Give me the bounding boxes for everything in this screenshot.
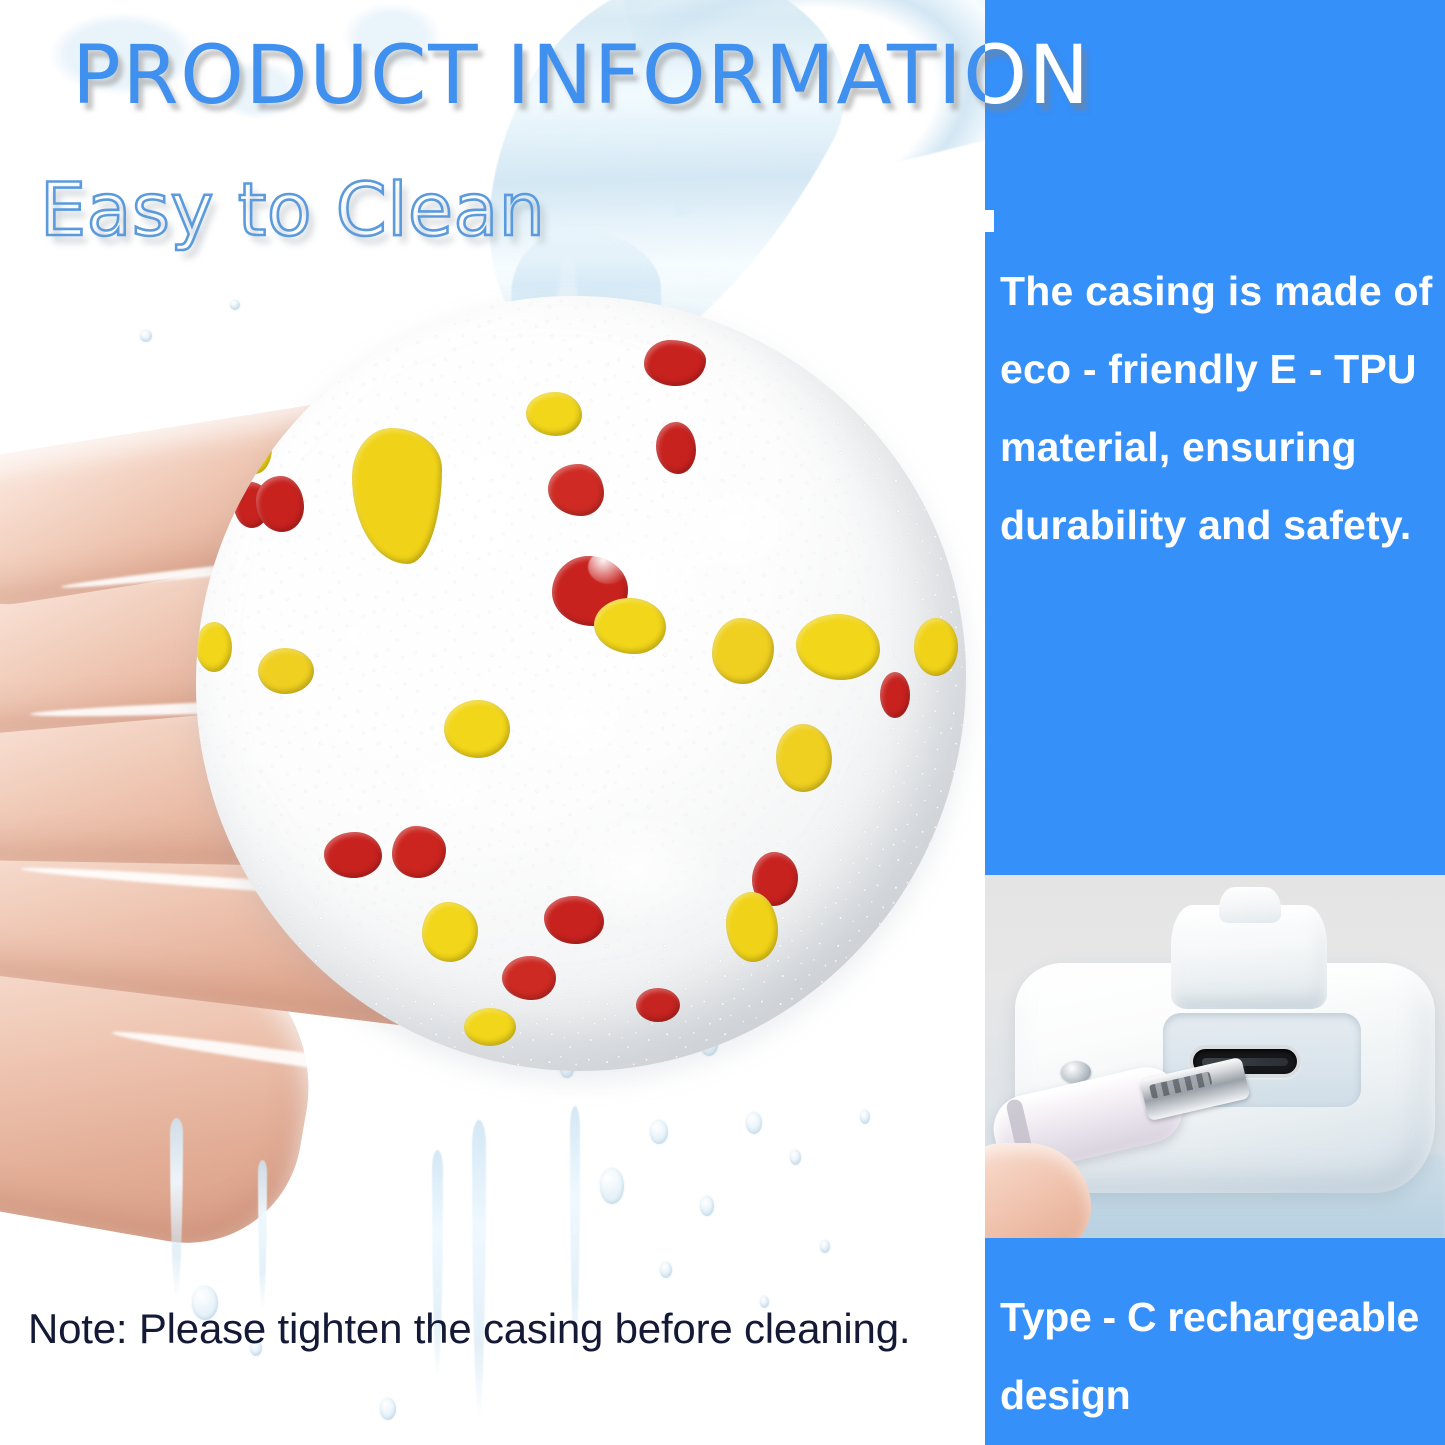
ball-spot-red — [256, 476, 304, 532]
water-droplet — [790, 1150, 801, 1165]
water-sheen — [346, 626, 374, 650]
ball-spot-red — [656, 422, 696, 474]
ball-spot-yellow — [352, 428, 442, 564]
water-droplet — [140, 330, 152, 342]
water-droplet — [746, 1112, 762, 1134]
water-droplet — [820, 1240, 830, 1253]
product-information-infographic: The casing is made of eco - friendly E -… — [0, 0, 1445, 1445]
ball-spot-yellow — [914, 618, 958, 676]
ball-spot-yellow — [776, 724, 832, 792]
page-title-base: PRODUCT INFORMATION — [72, 22, 1091, 130]
water-droplet — [660, 1262, 672, 1278]
water-sheen — [588, 550, 630, 584]
ball-spot-yellow — [726, 892, 778, 962]
ball-spot-yellow — [796, 614, 880, 680]
usb-c-port-photo — [985, 875, 1445, 1238]
ball-spot-yellow — [196, 622, 232, 672]
page-title: PRODUCT INFORMATION PRODUCT INFORMATION — [0, 22, 1445, 130]
material-description-text: The casing is made of eco - friendly E -… — [1000, 252, 1440, 564]
ball-spot-yellow — [712, 618, 774, 684]
water-sheen — [496, 356, 530, 384]
cleaning-note: Note: Please tighten the casing before c… — [28, 1305, 910, 1353]
device-knob — [1219, 887, 1281, 923]
recharge-caption: Type - C rechargeable design — [1000, 1278, 1445, 1434]
ball-spot-yellow — [422, 902, 478, 962]
water-droplet — [650, 1120, 668, 1144]
water-drip — [170, 1118, 183, 1300]
water-droplet — [860, 1110, 870, 1124]
water-droplet — [700, 1196, 714, 1216]
ball-spot-red — [636, 988, 680, 1022]
page-subtitle: Easy to Clean — [40, 168, 545, 253]
ball-spot-red — [644, 340, 706, 386]
water-drip — [258, 1160, 267, 1310]
ball-spot-yellow — [594, 598, 666, 654]
water-droplet — [600, 1168, 624, 1204]
ball-spot-yellow — [258, 648, 314, 694]
water-ball-product — [196, 296, 966, 1071]
ball-spot-yellow — [464, 1008, 516, 1046]
ball-spot-red — [392, 826, 446, 878]
ball-spot-yellow — [526, 392, 582, 436]
ball-spot-yellow — [444, 700, 510, 758]
ball-spot-red — [324, 832, 382, 878]
water-droplet — [380, 1398, 396, 1420]
ball-spot-red — [548, 464, 604, 516]
water-drip — [472, 1120, 486, 1420]
ball-spot-red — [880, 672, 910, 718]
ball-spot-red — [544, 896, 604, 944]
panel-edge-notch — [985, 210, 994, 232]
ball-spot-red — [502, 956, 556, 1000]
ball-spot-yellow — [238, 422, 272, 474]
